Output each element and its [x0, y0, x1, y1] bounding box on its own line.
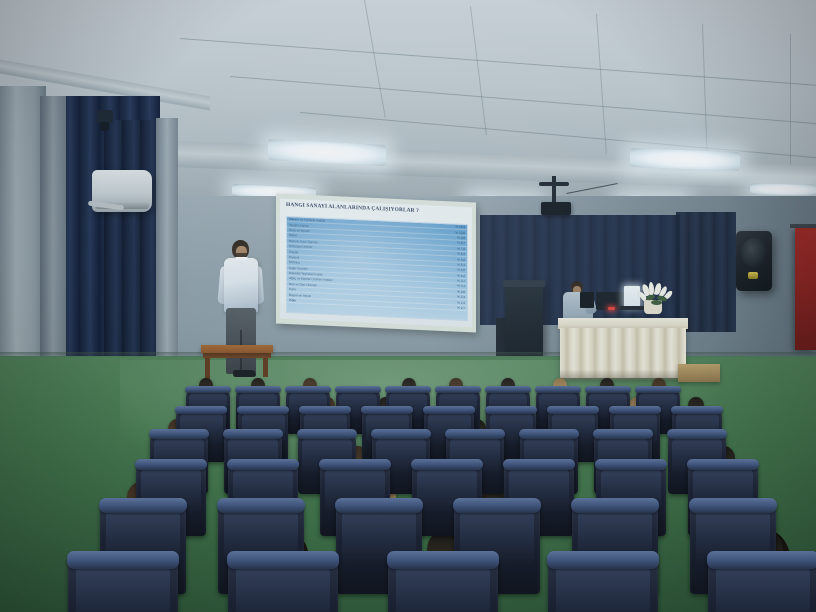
- audience-seat-rail: [485, 386, 531, 393]
- audience-seat-rail: [571, 498, 659, 513]
- stage-curtain-right: [676, 212, 736, 332]
- ceiling-projector: [541, 202, 571, 215]
- slide-row-value: % 5,8: [457, 257, 465, 261]
- slide-row-label: Diğer: [289, 298, 296, 302]
- slide-row-value: % 4,6: [457, 268, 465, 272]
- audience-seat-rail: [435, 386, 481, 393]
- slide-row-label: Gıda ve İçecek: [289, 228, 310, 233]
- ceiling-light-panel: [750, 183, 816, 195]
- slide-row-label: Metal: [289, 233, 297, 237]
- audience-seat-rail: [445, 429, 505, 439]
- audience-seat-rail: [609, 406, 661, 415]
- audience-seat-rail: [335, 386, 381, 393]
- audience-seat-rail: [67, 551, 179, 569]
- slide-row-value: % 12,6: [455, 230, 465, 234]
- audience-seat-rail: [671, 406, 723, 415]
- slide-row-value: % 18,4: [455, 225, 465, 229]
- audience-seat-rail: [361, 406, 413, 415]
- audience-seat-rail: [237, 406, 289, 415]
- audience-seat-rail: [547, 406, 599, 415]
- slide-row-value: % 3,7: [457, 279, 465, 283]
- audience-seat-rail: [593, 429, 653, 439]
- slide-row-label: Basım ve Yayım: [289, 293, 311, 298]
- audience-seat-rail: [319, 459, 391, 471]
- loudspeaker-badge: [748, 272, 758, 279]
- laptop-screen: [624, 286, 640, 307]
- audience-seat-rail: [227, 459, 299, 471]
- projection-screen: HANGİ SANAYİ ALANLARINDA ÇALIŞIYORLAR ? …: [280, 199, 472, 328]
- flower-arrangement: [640, 282, 674, 308]
- equipment-led-indicator: [608, 307, 615, 310]
- audience-seat-rail: [385, 386, 431, 393]
- presenter-shirt: [224, 258, 258, 312]
- audience-seat-rail: [175, 406, 227, 415]
- audience-seat-rail: [689, 498, 777, 513]
- head-table-monitor: [580, 292, 594, 308]
- audience-seat-rail: [297, 429, 357, 439]
- audience-seat-rail: [149, 429, 209, 439]
- audience-seat-rail: [371, 429, 431, 439]
- slide-row-label: Kimyasal Ürünler: [289, 244, 313, 249]
- audience-seat-rail: [411, 459, 483, 471]
- auditorium-photo: HANGİ SANAYİ ALANLARINDA ÇALIŞIYORLAR ? …: [0, 0, 816, 612]
- audience-seat-rail: [285, 386, 331, 393]
- audience-seat-rail: [535, 386, 581, 393]
- slide-row-value: % 4,2: [457, 273, 465, 277]
- audience-seat-rail: [217, 498, 305, 513]
- audience-seat-rail: [453, 498, 541, 513]
- audience-seat-rail: [503, 459, 575, 471]
- audience-seat-rail: [135, 459, 207, 471]
- audience-seat-rail: [235, 386, 281, 393]
- slide-row-value: % 2,8: [457, 290, 465, 294]
- stage-spotlight-lens: [100, 122, 109, 131]
- audience-seat-rail: [519, 429, 579, 439]
- slide-row-value: % 9,8: [457, 236, 465, 240]
- slide-row-value: % 5,1: [457, 263, 465, 267]
- slide-row-value: % 2,3: [457, 295, 465, 299]
- slide-row-value: % 6,4: [457, 252, 465, 256]
- audience-seat-rail: [227, 551, 339, 569]
- slide-row-label: Tekstil Ürünleri: [289, 223, 309, 228]
- slide-row-label: Plastik: [289, 250, 298, 254]
- slide-row-label: Cam: [289, 287, 296, 291]
- lectern-top: [503, 280, 545, 287]
- slide-row-value: % 7,9: [457, 246, 465, 250]
- audience-seat-rail: [485, 406, 537, 415]
- audience-seat-rail: [547, 551, 659, 569]
- slide-table: Makine ve Teçhizat İmalatı% 18,4Tekstil …: [286, 216, 468, 321]
- audience-seat-rail: [687, 459, 759, 471]
- audience-seating: [0, 330, 816, 612]
- audience-seat-rail: [423, 406, 475, 415]
- audience-seat-rail: [595, 459, 667, 471]
- slide-row-label: Mobilya: [289, 260, 300, 264]
- audience-seat-rail: [99, 498, 187, 513]
- audience-seat-rail: [667, 429, 727, 439]
- audience-seat-rail: [707, 551, 816, 569]
- loudspeaker-cone: [741, 238, 767, 268]
- slide-row-label: Kağıt Ürünleri: [289, 266, 308, 271]
- slide-row-value: % 2,7: [457, 306, 465, 310]
- audience-seat-rail: [585, 386, 631, 393]
- audience-seat-rail: [387, 551, 499, 569]
- audience-seat-rail: [635, 386, 681, 393]
- slide-row-label: Kauçuk: [289, 255, 299, 259]
- audience-seat-rail: [223, 429, 283, 439]
- slide-row-value: % 3,1: [457, 284, 465, 288]
- ceiling-light-panel: [630, 148, 740, 171]
- slide-row-value: % 1,9: [457, 300, 465, 304]
- slide-row-value: % 8,7: [457, 241, 465, 245]
- audience-seat-rail: [335, 498, 423, 513]
- audience-seat-rail: [299, 406, 351, 415]
- audience-seat-rail: [185, 386, 231, 393]
